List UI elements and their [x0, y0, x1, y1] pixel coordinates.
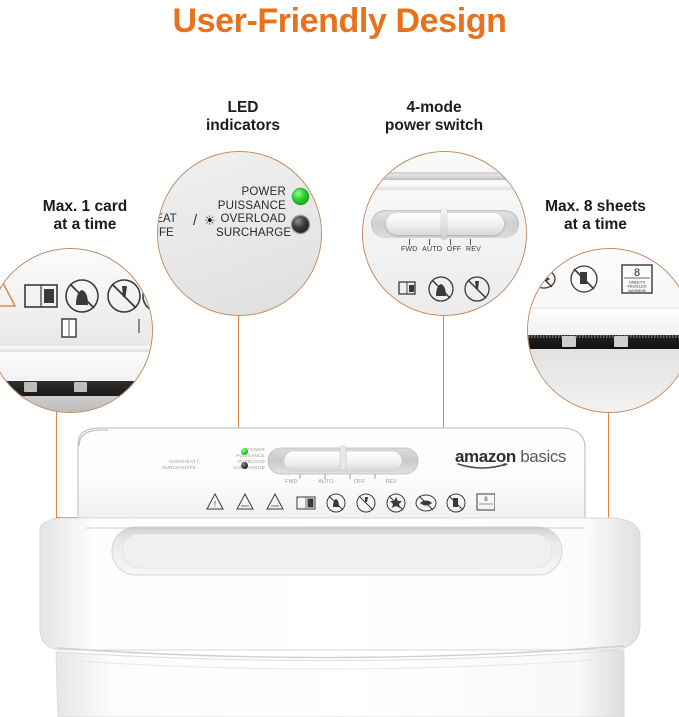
switch-bubble-icon-row: [395, 276, 495, 310]
led-overload-label: OVERLOAD SURCHARGE: [216, 212, 286, 240]
callout-bubble-max-8-sheets: 8 SHEETS FEUILLES MAXIMUM: [527, 248, 679, 413]
switch-nub: [441, 208, 447, 240]
mode-auto: AUTO: [318, 479, 333, 485]
sheets-bubble-icon-row: 8 SHEETS FEUILLES MAXIMUM: [538, 261, 678, 301]
product-overheat-label: OVERHEAT SURCHAUFFE: [134, 459, 196, 471]
product-power-label: POWER PUISSANCE: [205, 447, 265, 459]
led-separator: /: [193, 212, 197, 229]
svg-text:FEUILLES: FEUILLES: [628, 284, 647, 289]
card-bubble-icon-row: [0, 275, 153, 321]
svg-text:8: 8: [484, 497, 488, 503]
mode-rev: REV: [386, 479, 397, 485]
led-overheat-partial: IEAT FFE: [157, 212, 177, 240]
amazon-smile-icon: [456, 462, 514, 471]
callout-bubble-max-1-card: [0, 248, 153, 413]
product-power-led: [241, 448, 248, 455]
sunburst-icon: ☀: [204, 214, 216, 227]
callout-bubble-led-indicators: IEAT FFE / ☀ POWER PUISSANCE OVERLOAD SU…: [157, 151, 322, 316]
callout-bubble-power-switch: FWD AUTO OFF REV: [362, 151, 527, 316]
led-power-indicator: [292, 188, 309, 205]
product-overload-led: [241, 462, 248, 469]
svg-text:MAXIMUM: MAXIMUM: [628, 289, 645, 293]
led-power-label: POWER PUISSANCE: [186, 185, 286, 213]
brand-basics: basics: [520, 447, 566, 466]
infographic-canvas: User-Friendly Design LED indicators 4-mo…: [0, 0, 679, 717]
led-overload-indicator: [292, 216, 309, 233]
switch-mode-off: OFF: [447, 246, 462, 253]
product-overload-label: OVERLOAD SURCHARGE: [205, 459, 265, 471]
switch-mode-auto: AUTO: [422, 246, 442, 253]
mode-fwd: FWD: [285, 479, 298, 485]
card-slot-marks: [0, 317, 153, 347]
switch-mode-rev: REV: [466, 246, 481, 253]
product-warning-icon-row: ! 8: [205, 490, 495, 514]
product-switch-modes: FWD AUTO OFF REV: [285, 479, 397, 485]
mode-off: OFF: [354, 479, 365, 485]
brand-logo: amazon basics: [455, 447, 566, 467]
switch-mode-fwd: FWD: [401, 246, 418, 253]
svg-text:!: !: [214, 500, 216, 509]
product-separator: /: [197, 459, 199, 467]
svg-text:8: 8: [634, 267, 640, 279]
